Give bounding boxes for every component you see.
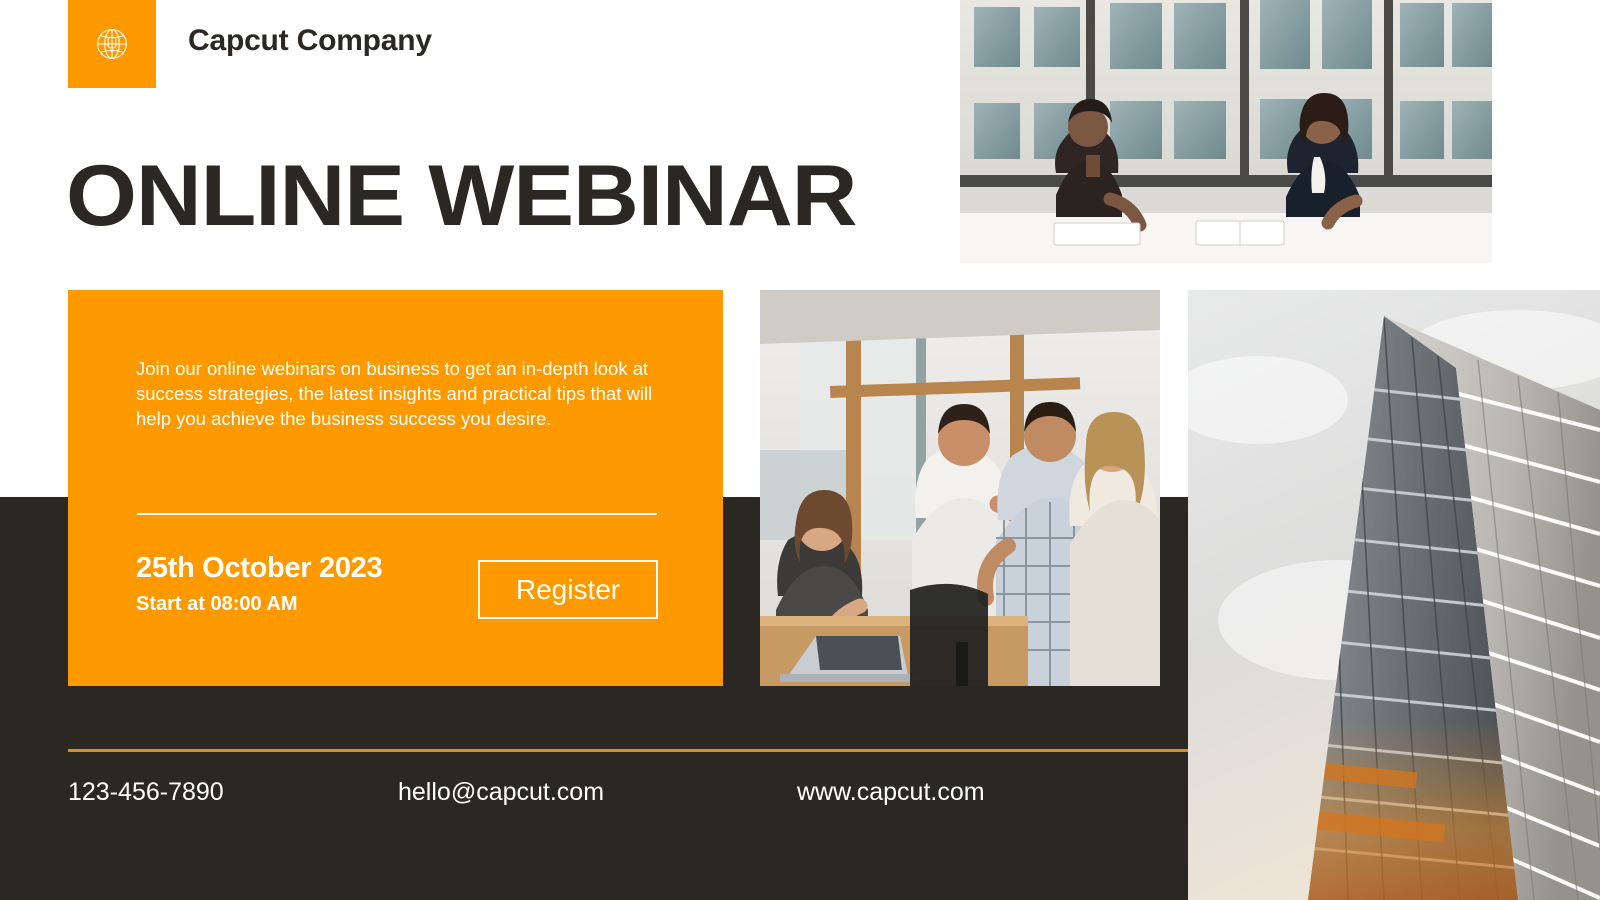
photo-office-team xyxy=(760,290,1160,686)
footer-website[interactable]: www.capcut.com xyxy=(797,778,985,807)
webinar-description: Join our online webinars on business to … xyxy=(136,356,666,431)
footer-email[interactable]: hello@capcut.com xyxy=(398,778,604,807)
webinar-info-panel: Join our online webinars on business to … xyxy=(68,290,723,686)
footer-divider xyxy=(68,749,1188,752)
webinar-start-time: Start at 08:00 AM xyxy=(136,593,298,616)
photo-skyscraper xyxy=(1188,290,1600,900)
globe-icon xyxy=(89,21,135,67)
panel-divider xyxy=(137,513,657,515)
page-title: ONLINE WEBINAR xyxy=(66,150,856,242)
register-button[interactable]: Register xyxy=(478,560,658,619)
footer-phone[interactable]: 123-456-7890 xyxy=(68,778,224,807)
webinar-date: 25th October 2023 xyxy=(136,552,382,585)
photo-two-women-meeting xyxy=(960,0,1492,263)
brand-name: Capcut Company xyxy=(188,24,432,58)
logo-tile xyxy=(68,0,156,88)
